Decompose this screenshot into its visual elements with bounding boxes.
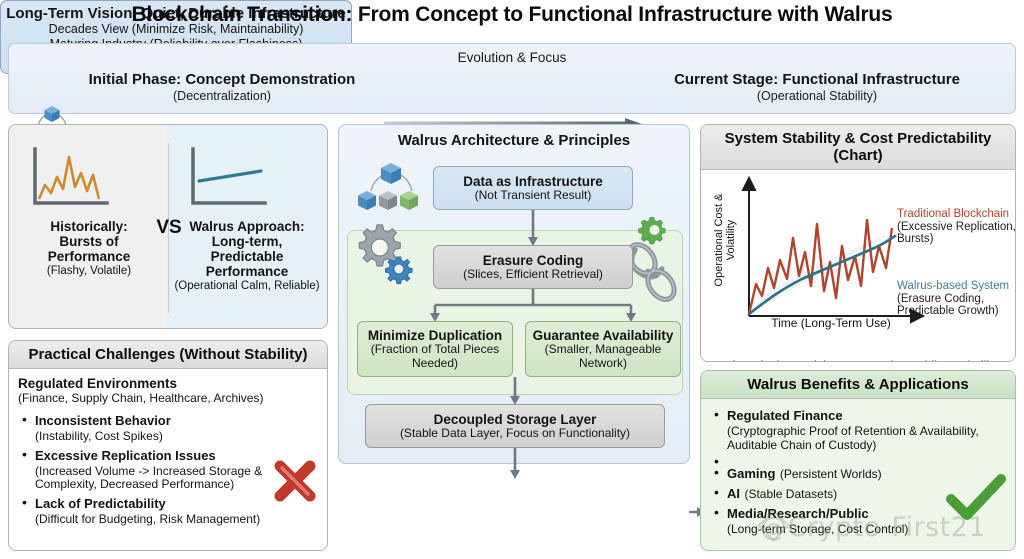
chart-note: Walrus design anticipates growth, avoidi… — [701, 359, 1015, 362]
current-stage-sub: (Operational Stability) — [647, 89, 987, 103]
practical-challenges-panel: Practical Challenges (Without Stability)… — [8, 340, 328, 551]
legend-traditional: Traditional Blockchain (Excessive Replic… — [897, 208, 1016, 246]
vs-label: VS — [155, 217, 183, 239]
challenges-body: Regulated Environments (Finance, Supply … — [9, 369, 327, 551]
benefit-sub: (Stable Datasets) — [744, 487, 837, 501]
box-title: Erasure Coding — [434, 253, 632, 268]
box-sub: (Smaller, Manageable Network) — [526, 343, 680, 370]
vision-down-arrow-icon — [500, 462, 530, 480]
benefit-title: Regulated Finance — [727, 408, 843, 423]
guarantee-availability-box: Guarantee Availability (Smaller, Managea… — [525, 321, 681, 377]
box-title: Decoupled Storage Layer — [366, 412, 664, 427]
spacer — [707, 454, 1007, 463]
box-sub: (Not Transient Result) — [434, 189, 632, 203]
box-title: Guarantee Availability — [526, 328, 680, 343]
box-sub: (Slices, Efficient Retrieval) — [434, 268, 632, 282]
historical-title-3: Performance — [13, 249, 165, 264]
walrus-title-2: Long-term, — [171, 234, 323, 249]
stability-chart-panel: System Stability & Cost Predictability (… — [700, 124, 1016, 362]
box-sub: (Stable Data Layer, Focus on Functionali… — [366, 427, 664, 441]
legend-traditional-note: (Excessive Replication, Bursts) — [897, 221, 1016, 246]
banner-left-stage: Initial Phase: Concept Demonstration (De… — [67, 71, 377, 103]
benefit-title: AI — [727, 486, 740, 501]
erasure-coding-box: Erasure Coding (Slices, Efficient Retrie… — [433, 245, 633, 289]
challenge-sub: (Instability, Cost Spikes) — [35, 430, 318, 444]
benefit-title: Gaming — [727, 466, 775, 481]
comparison-panel: Historically: Bursts of Performance (Fla… — [8, 124, 328, 329]
challenge-title: Excessive Replication Issues — [35, 448, 216, 463]
challenge-sub: (Increased Volume -> Increased Storage &… — [35, 465, 267, 492]
chart-title: System Stability & Cost Predictability (… — [701, 125, 1015, 170]
page-title: Blockchain Transition: From Concept to F… — [0, 3, 1024, 27]
box-title: Minimize Duplication — [358, 328, 512, 343]
legend-traditional-name: Traditional Blockchain — [897, 208, 1016, 221]
walrus-sub: (Operational Calm, Reliable) — [171, 280, 323, 293]
historical-title-1: Historically: — [13, 219, 165, 234]
chart-body: Operational Cost & Volatility Time (Long… — [701, 170, 1015, 362]
banner-right-stage: Current Stage: Functional Infrastructure… — [647, 71, 987, 103]
challenges-header: Practical Challenges (Without Stability) — [9, 341, 327, 369]
challenge-sub: (Difficult for Budgeting, Risk Managemen… — [35, 513, 318, 527]
green-check-icon — [947, 475, 1005, 521]
banner-caption: Evolution & Focus — [9, 50, 1015, 65]
evolution-banner: Evolution & Focus — [8, 43, 1016, 114]
decoupled-storage-layer-box: Decoupled Storage Layer (Stable Data Lay… — [365, 404, 665, 448]
walrus-column: Walrus Approach: Long-term, Predictable … — [171, 143, 323, 293]
benefit-title: Media/Research/Public — [727, 506, 869, 521]
box-title: Data as Infrastructure — [434, 174, 632, 189]
initial-phase-title: Initial Phase: Concept Demonstration — [67, 71, 377, 88]
legend-walrus: Walrus-based System (Erasure Coding, Pre… — [897, 280, 1016, 318]
challenges-lead: Regulated Environments — [18, 376, 318, 391]
walrus-title-4: Performance — [171, 264, 323, 279]
walrus-title-3: Predictable — [171, 249, 323, 264]
list-item: Regulated Finance (Cryptographic Proof o… — [707, 407, 1007, 452]
stable-trend-icon — [171, 143, 323, 215]
architecture-panel: Walrus Architecture & Principles — [338, 124, 690, 464]
box-sub: (Fraction of Total Pieces Needed) — [358, 343, 512, 370]
legend-walrus-note: (Erasure Coding, Predictable Growth) — [897, 293, 1016, 318]
infographic-root: Blockchain Transition: From Concept to F… — [0, 0, 1024, 559]
challenge-title: Lack of Predictability — [35, 496, 166, 511]
historical-title-2: Bursts of — [13, 234, 165, 249]
benefits-panel: Walrus Benefits & Applications Regulated… — [700, 370, 1016, 551]
benefit-sub: (Cryptographic Proof of Retention & Avai… — [727, 425, 982, 452]
initial-phase-sub: (Decentralization) — [67, 89, 377, 103]
historical-column: Historically: Bursts of Performance (Fla… — [13, 143, 165, 278]
minimize-duplication-box: Minimize Duplication (Fraction of Total … — [357, 321, 513, 377]
volatile-sparkline-icon — [13, 143, 165, 215]
benefits-body: Regulated Finance (Cryptographic Proof o… — [701, 399, 1015, 551]
list-item: Inconsistent Behavior (Instability, Cost… — [18, 412, 318, 444]
benefit-sub: (Persistent Worlds) — [780, 467, 882, 481]
challenge-title: Inconsistent Behavior — [35, 413, 171, 428]
current-stage-title: Current Stage: Functional Infrastructure — [647, 71, 987, 88]
benefits-header: Walrus Benefits & Applications — [701, 371, 1015, 399]
challenges-lead-sub: (Finance, Supply Chain, Healthcare, Arch… — [18, 391, 318, 405]
walrus-title-1: Walrus Approach: — [171, 219, 323, 234]
data-as-infrastructure-box: Data as Infrastructure (Not Transient Re… — [433, 166, 633, 210]
legend-walrus-name: Walrus-based System — [897, 280, 1016, 293]
historical-sub: (Flashy, Volatile) — [13, 265, 165, 278]
red-x-icon — [271, 457, 319, 505]
